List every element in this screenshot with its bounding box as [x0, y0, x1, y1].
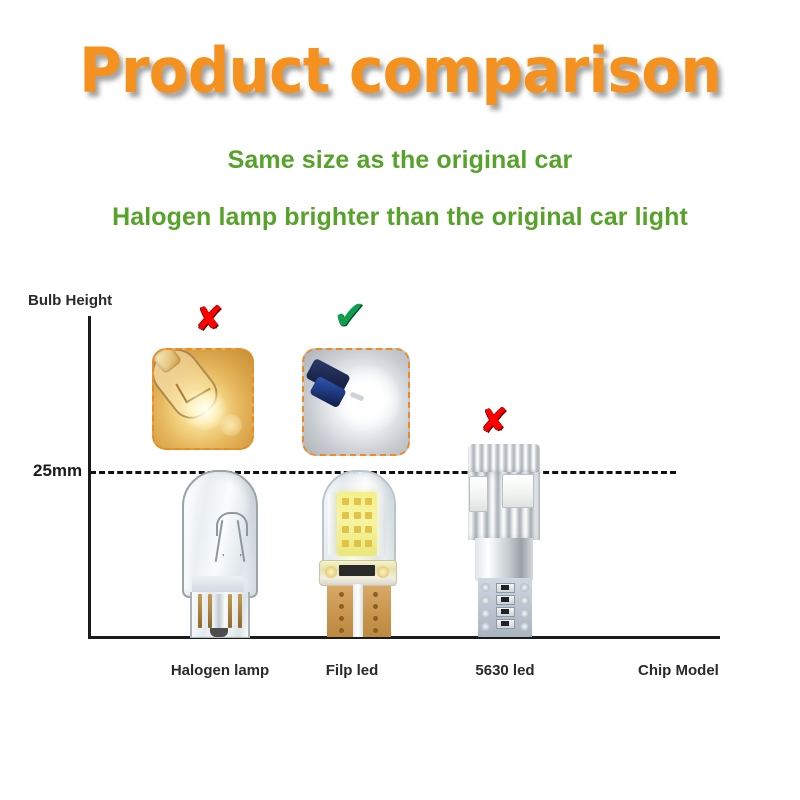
- category-label-halogen-lamp: Halogen lamp: [150, 662, 290, 679]
- y-tick-25mm: 25mm: [33, 461, 82, 481]
- flip-led-side-panel: [377, 492, 386, 556]
- led-5630-smd-chip: [469, 476, 488, 512]
- y-axis-line: [88, 316, 91, 638]
- halogen-lead-wire: [208, 594, 212, 628]
- flip-led-chip-label: [339, 565, 375, 576]
- halogen-lead-wire: [228, 594, 232, 628]
- check-icon-flip-led: ✔: [333, 296, 367, 336]
- flip-led-product: [313, 470, 401, 637]
- cross-icon-5630: ✘: [480, 404, 509, 438]
- led-5630-product: [458, 444, 550, 637]
- flip-led-cob-panel: [337, 492, 377, 556]
- halogen-photo-bokeh: [220, 414, 242, 436]
- y-axis-label: Bulb Height: [28, 292, 112, 309]
- flip-led-pcb-right: [361, 586, 391, 637]
- x-axis-label: Chip Model: [638, 662, 719, 679]
- led-5630-pcb-base: [478, 578, 532, 637]
- flip-led-collar-dot: [325, 566, 337, 578]
- halogen-glow-photo: [152, 348, 254, 450]
- halogen-base-tip: [210, 628, 228, 637]
- led-5630-waist: [475, 538, 533, 582]
- halogen-lead-wire: [238, 594, 242, 628]
- flip-led-center-gap: [353, 584, 363, 637]
- halogen-lamp-product: [172, 470, 264, 637]
- flip-led-side-panel: [328, 492, 337, 556]
- led-glow-photo: [302, 348, 410, 456]
- led-5630-smd-chip: [502, 474, 534, 508]
- cross-icon-halogen: ✘: [195, 302, 224, 336]
- comparison-chart: Bulb Height Chip Model 25mm ✘ ✔ ✘: [0, 0, 800, 800]
- halogen-lead-wire: [198, 594, 202, 628]
- category-label-flip-led: Filp led: [292, 662, 412, 679]
- halogen-center-stem: [214, 594, 224, 630]
- category-label-5630-led: 5630 led: [440, 662, 570, 679]
- flip-led-collar-dot: [377, 566, 389, 578]
- led-5630-heatsink-top: [468, 444, 540, 474]
- halogen-filament-stem: [222, 554, 242, 568]
